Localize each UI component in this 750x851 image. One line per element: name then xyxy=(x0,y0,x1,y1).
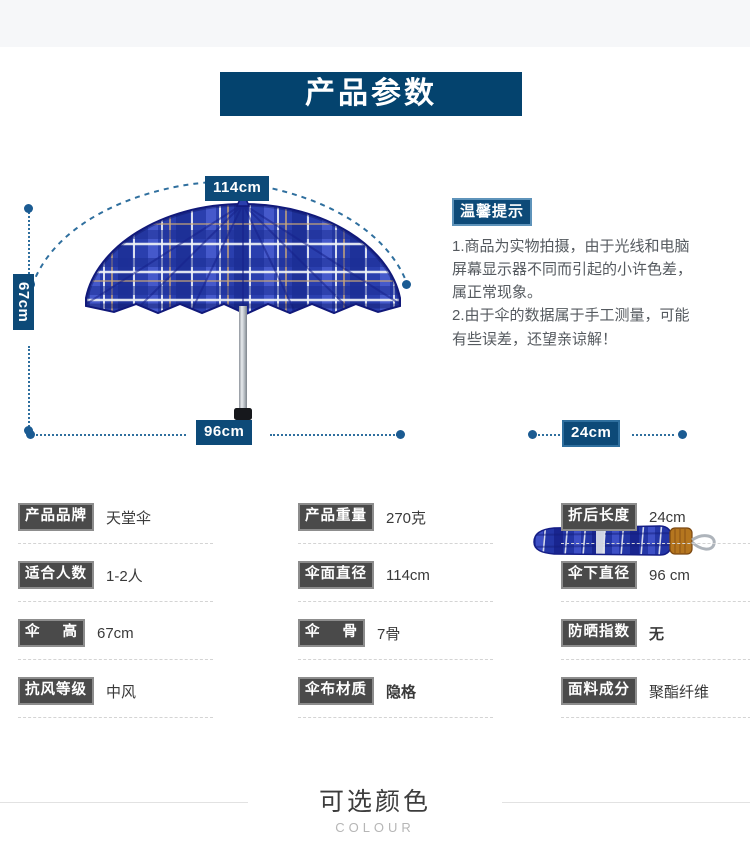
spec-divider xyxy=(18,601,213,602)
spec-column-3: 折后长度 24cm 伞下直径 96 cm 防晒指数 无 xyxy=(561,498,750,730)
tips-line: 屏幕显示器不同而引起的小许色差， xyxy=(452,258,742,281)
spec-divider xyxy=(561,601,750,602)
spec-value: 96 cm xyxy=(649,567,690,584)
folded-length-dot-right xyxy=(678,430,687,439)
spec-value: 1-2人 xyxy=(106,565,143,586)
spec-row: 产品品牌 天堂伞 xyxy=(18,498,208,556)
spec-label: 折后长度 xyxy=(561,503,637,531)
spec-label: 伞布材质 xyxy=(298,677,374,705)
spec-label: 产品重量 xyxy=(298,503,374,531)
spec-label: 面料成分 xyxy=(561,677,637,705)
spec-value: 天堂伞 xyxy=(106,507,151,528)
spec-row: 防晒指数 无 xyxy=(561,614,750,672)
spec-row: 适合人数 1-2人 xyxy=(18,556,208,614)
span-width-dot-right xyxy=(396,430,405,439)
spec-label: 产品品牌 xyxy=(18,503,94,531)
tips-line: 有些误差，还望亲谅解！ xyxy=(452,328,742,351)
spec-value: 无 xyxy=(649,623,664,644)
product-spec-page: 产品参数 xyxy=(0,0,750,851)
colour-title-en: COLOUR xyxy=(0,820,750,835)
height-dot-bottom xyxy=(24,426,33,435)
spec-divider xyxy=(298,659,493,660)
top-background-band xyxy=(0,0,750,47)
spec-row: 伞下直径 96 cm xyxy=(561,556,750,614)
spec-value: 隐格 xyxy=(386,681,416,702)
page-title: 产品参数 xyxy=(305,79,437,109)
spec-row: 面料成分 聚酯纤维 xyxy=(561,672,750,730)
spec-column-2: 产品重量 270克 伞面直径 114cm 伞骨 7骨 xyxy=(298,498,488,730)
colour-section: 可选颜色 COLOUR xyxy=(0,780,750,851)
spec-value: 67cm xyxy=(97,625,134,642)
spec-row: 伞骨 7骨 xyxy=(298,614,488,672)
tips-line: 2.由于伞的数据属于手工测量，可能 xyxy=(452,304,742,327)
spec-label: 适合人数 xyxy=(18,561,94,589)
spec-row: 伞布材质 隐格 xyxy=(298,672,488,730)
spec-row: 抗风等级 中风 xyxy=(18,672,208,730)
section-header-banner: 产品参数 xyxy=(220,72,522,116)
spec-label: 抗风等级 xyxy=(18,677,94,705)
spec-divider xyxy=(298,601,493,602)
spec-label: 伞骨 xyxy=(298,619,365,647)
spec-divider xyxy=(561,543,750,544)
colour-title-zh: 可选颜色 xyxy=(0,786,750,819)
folded-length-dot-left xyxy=(528,430,537,439)
spec-divider xyxy=(298,543,493,544)
folded-length-label: 24cm xyxy=(562,420,620,447)
spec-value: 24cm xyxy=(649,509,686,526)
spec-divider xyxy=(561,659,750,660)
spec-value: 中风 xyxy=(106,681,136,702)
folded-length-guide-left xyxy=(538,434,560,436)
spec-divider xyxy=(561,717,750,718)
tips-badge: 温馨提示 xyxy=(452,198,532,226)
spec-column-1: 产品品牌 天堂伞 适合人数 1-2人 伞高 67cm xyxy=(18,498,208,730)
spec-divider xyxy=(298,717,493,718)
canopy-width-label: 114cm xyxy=(205,176,269,201)
spec-divider xyxy=(18,659,213,660)
spec-label: 防晒指数 xyxy=(561,619,637,647)
spec-label: 伞面直径 xyxy=(298,561,374,589)
spec-label: 伞下直径 xyxy=(561,561,637,589)
height-dot-top xyxy=(24,204,33,213)
spec-row: 折后长度 24cm xyxy=(561,498,750,556)
spec-row: 产品重量 270克 xyxy=(298,498,488,556)
spec-value: 7骨 xyxy=(377,623,400,644)
height-guide-lower xyxy=(28,346,30,430)
tips-panel: 温馨提示 1.商品为实物拍摄，由于光线和电脑 屏幕显示器不同而引起的小许色差， … xyxy=(452,198,742,351)
height-label: 67cm xyxy=(13,274,34,330)
spec-value: 聚酯纤维 xyxy=(649,681,709,702)
span-width-guide-left xyxy=(36,434,186,436)
spec-value: 270克 xyxy=(386,507,426,528)
spec-value: 114cm xyxy=(386,567,430,584)
spec-divider xyxy=(18,543,213,544)
tips-line: 属正常现象。 xyxy=(452,281,742,304)
canopy-width-dot-right xyxy=(402,280,411,289)
tips-body: 1.商品为实物拍摄，由于光线和电脑 屏幕显示器不同而引起的小许色差， 属正常现象… xyxy=(452,235,742,351)
spec-label: 伞高 xyxy=(18,619,85,647)
spec-divider xyxy=(18,717,213,718)
spec-row: 伞高 67cm xyxy=(18,614,208,672)
spec-row: 伞面直径 114cm xyxy=(298,556,488,614)
span-width-guide-right xyxy=(270,434,398,436)
tips-line: 1.商品为实物拍摄，由于光线和电脑 xyxy=(452,235,742,258)
span-width-label: 96cm xyxy=(196,420,252,445)
height-guide-upper xyxy=(28,212,30,274)
folded-length-guide-right xyxy=(632,434,674,436)
